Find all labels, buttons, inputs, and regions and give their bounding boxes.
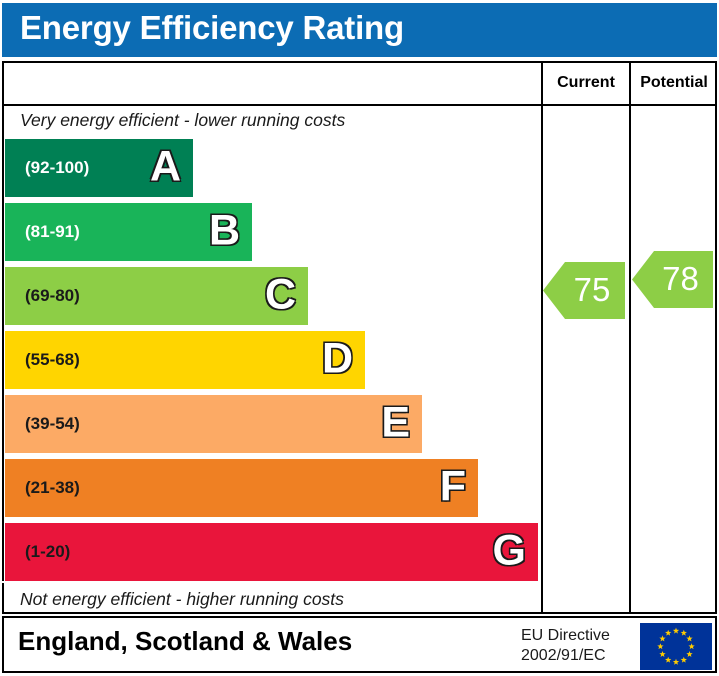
footer-region-label: England, Scotland & Wales [18,626,352,657]
rating-band-e: (39-54)E [5,395,422,453]
current-rating-value: 75 [565,273,619,306]
band-letter-b: B [209,210,240,253]
directive-line-1: EU Directive [521,626,631,646]
rating-band-g: (1-20)G [5,523,538,581]
band-range-d: (55-68) [25,350,80,370]
column-header-divider [2,104,717,106]
bottom-caption-separator [2,581,541,583]
band-range-f: (21-38) [25,478,80,498]
rating-band-c: (69-80)C [5,267,308,325]
current-column-divider [541,61,543,614]
band-letter-g: G [493,530,526,573]
rating-band-a: (92-100)A [5,139,193,197]
band-range-b: (81-91) [25,222,80,242]
band-range-a: (92-100) [25,158,89,178]
column-header-current: Current [543,74,629,92]
band-letter-a: A [150,146,181,189]
band-letter-c: C [265,274,296,317]
footer-directive-label: EU Directive 2002/91/EC [521,626,631,666]
band-range-c: (69-80) [25,286,80,306]
potential-rating-value: 78 [654,262,707,295]
directive-line-2: 2002/91/EC [521,646,631,666]
eu-flag-icon [640,623,712,670]
band-range-e: (39-54) [25,414,80,434]
column-header-potential: Potential [631,74,717,92]
band-letter-f: F [440,466,466,509]
caption-efficient: Very energy efficient - lower running co… [20,110,345,131]
potential-column-divider [629,61,631,614]
rating-band-d: (55-68)D [5,331,365,389]
band-range-g: (1-20) [25,542,70,562]
rating-band-f: (21-38)F [5,459,478,517]
energy-efficiency-rating-chart: Energy Efficiency Rating Current Potenti… [0,0,719,676]
page-title: Energy Efficiency Rating [20,9,404,47]
band-letter-d: D [322,338,353,381]
caption-not-efficient: Not energy efficient - higher running co… [20,589,344,610]
chart-header-banner: Energy Efficiency Rating [2,3,717,57]
band-letter-e: E [381,402,410,445]
rating-band-b: (81-91)B [5,203,252,261]
